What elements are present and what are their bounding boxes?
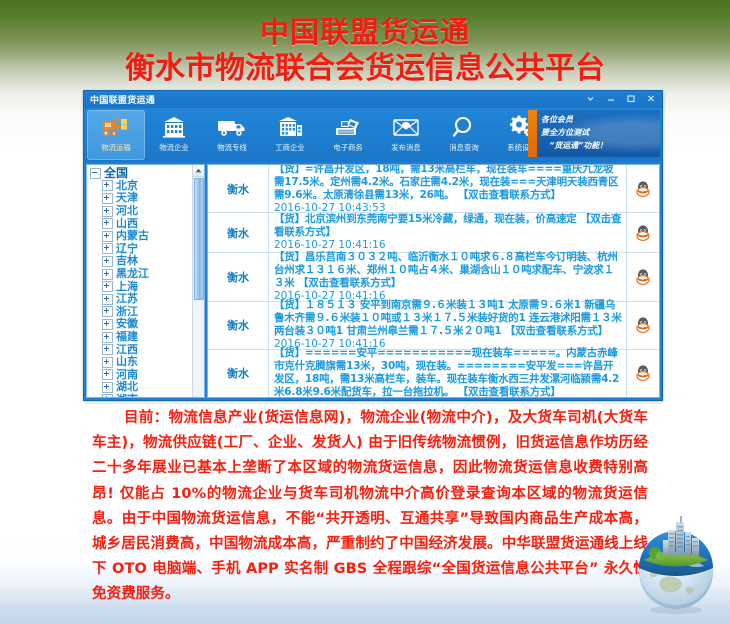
tree-node-label: 河北 xyxy=(116,205,138,217)
qq-icon xyxy=(636,317,650,333)
dropdown-icon[interactable] xyxy=(581,91,600,105)
tree-node-label: 湖北 xyxy=(116,381,138,393)
banner-line-2: 要全方位测试 xyxy=(541,126,656,139)
expand-icon[interactable] xyxy=(102,394,113,397)
expand-icon[interactable] xyxy=(102,206,113,217)
toolbar-item-wuliu-yunshu[interactable]: 物流运输 xyxy=(87,110,145,160)
promo-banner[interactable]: 各位会员 要全方位测试 “货运通”功能！ xyxy=(528,110,660,157)
ecommerce-icon xyxy=(331,113,365,141)
page-title: 中国联盟货运通 衡水市物流联合会货运信息公共平台 xyxy=(0,14,730,88)
row-contact[interactable] xyxy=(626,302,659,349)
forklift-icon xyxy=(99,113,133,141)
expand-icon[interactable] xyxy=(102,357,113,368)
row-city: 衡水 xyxy=(208,253,269,300)
table-row[interactable]: 衡水 【货】昌乐莒南３０３２吨、临沂衡水１０吨求６.８高栏车今订明装、杭州台州求… xyxy=(208,253,659,301)
main-toolbar: 物流运输 物流企业 xyxy=(84,108,662,162)
row-city: 衡水 xyxy=(208,213,269,252)
table-row[interactable]: 衡水 【货】北京滨州到东莞南宁要15米冷藏，绿通，现在装，价高速定 【双击查看联… xyxy=(208,213,659,253)
toolbar-item-label: 工商企业 xyxy=(275,142,304,152)
tree-node-neimenggu[interactable]: 内蒙古 xyxy=(90,230,192,243)
scroll-up-icon[interactable] xyxy=(193,165,204,177)
expand-icon[interactable] xyxy=(102,231,113,242)
page-title-line1: 中国联盟货运通 xyxy=(0,14,730,50)
toolbar-item-label: 物流专线 xyxy=(217,142,246,152)
toolbar-item-label: 物流企业 xyxy=(159,142,188,152)
toolbar-item-label: 消息查询 xyxy=(449,142,478,152)
toolbar-item-fabu-xiaoxi[interactable]: 发布消息 xyxy=(377,110,435,160)
notice-paragraph: 目前：物流信息产业(货运信息网)，物流企业(物流中介)，及大货车司机(大货车车主… xyxy=(92,406,648,608)
window-titlebar: 中国联盟货运通 xyxy=(84,91,662,108)
expand-icon[interactable] xyxy=(102,218,113,229)
tree-node-label: 天津 xyxy=(116,192,138,204)
row-contact[interactable] xyxy=(626,165,659,212)
row-content[interactable]: 【货】======安平===========现在装车=====。内蒙古赤峰市克什… xyxy=(269,350,626,397)
tree-node-beijing[interactable]: 北京 xyxy=(90,180,192,193)
banner-line-1: 各位会员 xyxy=(541,113,656,126)
expand-icon[interactable] xyxy=(102,180,113,191)
truck-icon xyxy=(215,113,249,141)
row-text: 【货】=许昌开发区，18吨，需13米高栏车，现在装车====重庆九龙坡需17.5… xyxy=(274,164,622,202)
building-icon xyxy=(157,113,191,141)
row-city: 衡水 xyxy=(208,302,269,349)
region-tree: 全国 北京 天津 河北 xyxy=(87,165,192,397)
tree-node-jiangxi[interactable]: 江西 xyxy=(90,343,192,356)
row-contact[interactable] xyxy=(626,350,659,397)
close-icon[interactable] xyxy=(641,91,660,105)
qq-icon xyxy=(636,269,650,285)
tree-node-zhejiang[interactable]: 浙江 xyxy=(90,306,192,319)
tree-node-label: 内蒙古 xyxy=(116,230,149,242)
toolbar-item-label: 发布消息 xyxy=(391,142,420,152)
tree-node-shanghai[interactable]: 上海 xyxy=(90,280,192,293)
tree-node-label: 福建 xyxy=(116,331,138,343)
qq-icon xyxy=(636,365,650,381)
expand-icon[interactable] xyxy=(102,294,113,305)
row-content[interactable]: 【货】=许昌开发区，18吨，需13米高栏车，现在装车====重庆九龙坡需17.5… xyxy=(269,165,626,212)
expand-icon[interactable] xyxy=(102,332,113,343)
maximize-icon[interactable] xyxy=(621,91,640,105)
tree-node-jiangsu[interactable]: 江苏 xyxy=(90,293,192,306)
tree-node-root[interactable]: 全国 xyxy=(90,167,192,180)
toolbar-item-dianzi-shangwu[interactable]: 电子商务 xyxy=(319,110,377,160)
banner-accent-bar xyxy=(528,110,537,157)
tree-node-label: 江苏 xyxy=(116,293,138,305)
collapse-icon[interactable] xyxy=(90,168,101,179)
row-text: 【货】北京滨州到东莞南宁要15米冷藏，绿通，现在装，价高速定 【双击查看联系方式… xyxy=(274,213,622,239)
toolbar-item-label: 电子商务 xyxy=(333,142,362,152)
row-text: 【货】１８５１３ 安平到南京需９.６米装１３吨1 太原需９.６米1 新疆乌鲁木齐… xyxy=(274,299,622,338)
tree-node-hebei[interactable]: 河北 xyxy=(90,205,192,218)
row-timestamp: 2016-10-27 10:41:16 xyxy=(274,239,386,251)
tree-node-henan[interactable]: 河南 xyxy=(90,369,192,382)
row-content[interactable]: 【货】昌乐莒南３０３２吨、临沂衡水１０吨求６.８高栏车今订明装、杭州台州求１３１… xyxy=(269,253,626,300)
table-row[interactable]: 衡水 【货】======安平===========现在装车=====。内蒙古赤峰… xyxy=(208,350,659,397)
page-title-line2: 衡水市物流联合会货运信息公共平台 xyxy=(0,50,730,88)
tree-node-hunan[interactable]: 湖南 xyxy=(90,394,192,397)
qq-icon xyxy=(636,225,650,241)
envelope-icon xyxy=(389,113,423,141)
expand-icon[interactable] xyxy=(102,281,113,292)
expand-icon[interactable] xyxy=(102,243,113,254)
tree-node-label: 吉林 xyxy=(116,255,138,267)
row-text: 【货】昌乐莒南３０３２吨、临沂衡水１０吨求６.８高栏车今订明装、杭州台州求１３１… xyxy=(274,251,622,290)
tree-node-label: 全国 xyxy=(104,167,128,179)
expand-icon[interactable] xyxy=(102,382,113,393)
row-city: 衡水 xyxy=(208,350,269,397)
tree-node-shandong[interactable]: 山东 xyxy=(90,356,192,369)
app-body: 全国 北京 天津 河北 xyxy=(84,162,662,400)
expand-icon[interactable] xyxy=(102,369,113,380)
row-content[interactable]: 【货】北京滨州到东莞南宁要15米冷藏，绿通，现在装，价高速定 【双击查看联系方式… xyxy=(269,213,626,252)
tree-node-anhui[interactable]: 安徽 xyxy=(90,318,192,331)
toolbar-item-label: 物流运输 xyxy=(101,142,130,152)
tree-node-label: 江西 xyxy=(116,344,138,356)
toolbar-item-wuliu-qiye[interactable]: 物流企业 xyxy=(145,110,203,160)
toolbar-item-xiaoxi-chaxun[interactable]: 消息查询 xyxy=(435,110,493,160)
row-text: 【货】======安平===========现在装车=====。内蒙古赤峰市克什… xyxy=(274,347,622,398)
globe-graphic xyxy=(624,510,728,616)
window-controls xyxy=(581,91,660,105)
row-timestamp: 2016-10-27 10:43:53 xyxy=(274,202,386,214)
banner-line-3: “货运通”功能！ xyxy=(541,139,656,152)
banner-body: 各位会员 要全方位测试 “货运通”功能！ xyxy=(537,110,660,157)
region-tree-panel: 全国 北京 天津 河北 xyxy=(86,164,205,398)
tree-node-heilongjiang[interactable]: 黑龙江 xyxy=(90,268,192,281)
expand-icon[interactable] xyxy=(102,306,113,317)
tree-node-label: 黑龙江 xyxy=(116,268,149,280)
expand-icon[interactable] xyxy=(102,193,113,204)
toolbar-item-gongshang-qiye[interactable]: 工商企业 xyxy=(261,110,319,160)
row-content[interactable]: 【货】１８５１３ 安平到南京需９.６米装１３吨1 太原需９.６米1 新疆乌鲁木齐… xyxy=(269,302,626,349)
expand-icon[interactable] xyxy=(102,344,113,355)
tree-node-hubei[interactable]: 湖北 xyxy=(90,381,192,394)
application-window: 中国联盟货运通 xyxy=(83,90,663,401)
table-row[interactable]: 衡水 【货】=许昌开发区，18吨，需13米高栏车，现在装车====重庆九龙坡需1… xyxy=(208,165,659,213)
table-row[interactable]: 衡水 【货】１８５１３ 安平到南京需９.６米装１３吨1 太原需９.６米1 新疆乌… xyxy=(208,302,659,350)
tree-node-label: 河南 xyxy=(116,369,138,381)
tree-node-label: 湖南 xyxy=(116,394,138,397)
qq-icon xyxy=(636,181,650,197)
expand-icon[interactable] xyxy=(102,269,113,280)
minimize-icon[interactable] xyxy=(601,91,620,105)
expand-icon[interactable] xyxy=(102,256,113,267)
tree-node-fujian[interactable]: 福建 xyxy=(90,331,192,344)
row-city: 衡水 xyxy=(208,165,269,212)
tree-node-tianjin[interactable]: 天津 xyxy=(90,192,192,205)
tree-node-label: 山西 xyxy=(116,218,138,230)
tree-node-label: 山东 xyxy=(116,356,138,368)
office-icon xyxy=(273,113,307,141)
page-root: 中国联盟货运通 衡水市物流联合会货运信息公共平台 中国联盟货运通 xyxy=(0,0,730,624)
scrollbar-thumb[interactable] xyxy=(194,178,204,300)
toolbar-item-wuliu-zhuanxian[interactable]: 物流专线 xyxy=(203,110,261,160)
expand-icon[interactable] xyxy=(102,319,113,330)
search-icon xyxy=(447,113,481,141)
freight-list: 衡水 【货】=许昌开发区，18吨，需13米高栏车，现在装车====重庆九龙坡需1… xyxy=(207,164,660,398)
tree-node-label: 上海 xyxy=(116,281,138,293)
tree-node-liaoning[interactable]: 辽宁 xyxy=(90,243,192,256)
tree-node-label: 安徽 xyxy=(116,318,138,330)
row-contact[interactable] xyxy=(626,253,659,300)
tree-scrollbar[interactable] xyxy=(192,165,204,397)
window-title: 中国联盟货运通 xyxy=(90,93,155,106)
row-contact[interactable] xyxy=(626,213,659,252)
tree-node-jilin[interactable]: 吉林 xyxy=(90,255,192,268)
